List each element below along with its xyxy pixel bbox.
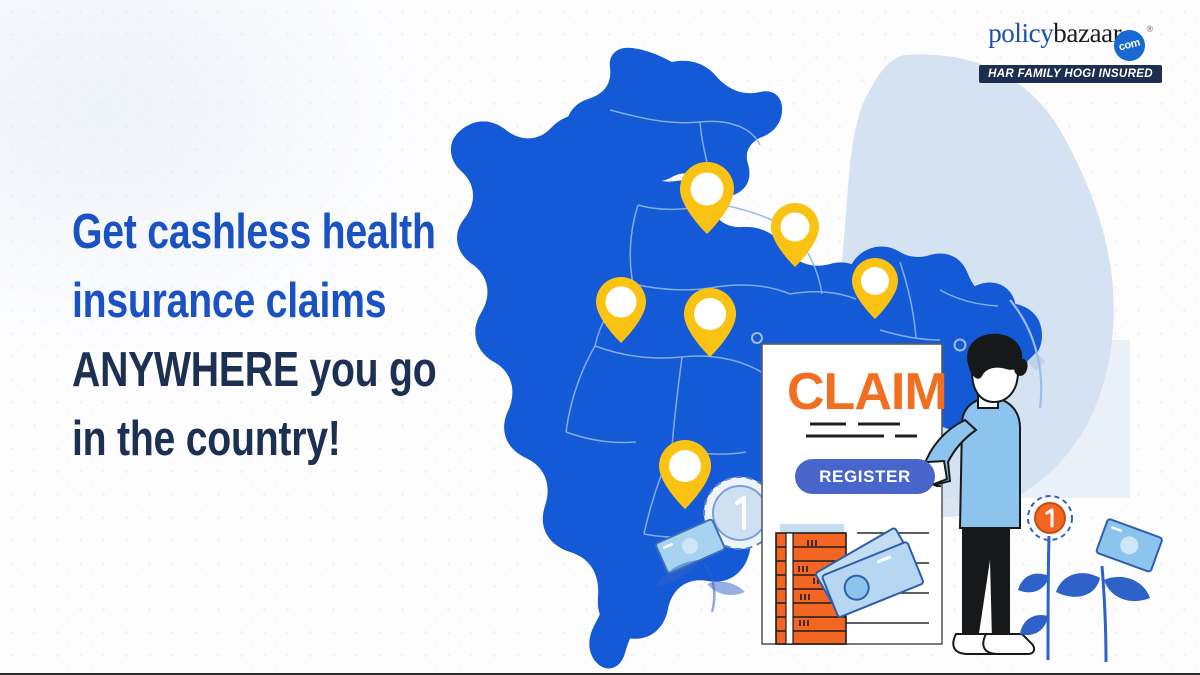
- banknote-stack: [815, 527, 924, 617]
- registered-trademark-icon: ®: [1146, 24, 1152, 34]
- map-pin[interactable]: [684, 288, 736, 357]
- doc-underlines: [806, 424, 917, 436]
- register-button[interactable]: REGISTER: [795, 459, 935, 494]
- map-pin[interactable]: [680, 162, 734, 234]
- background-blob: [828, 54, 1130, 517]
- page-title: Get cashless health insurance claims ANY…: [72, 198, 542, 474]
- map-pin[interactable]: [659, 440, 711, 509]
- logo-policy-text: policy: [988, 18, 1053, 48]
- doc-body-lines: [800, 533, 929, 623]
- map-pins: [596, 162, 898, 509]
- coin-flower: [1018, 496, 1072, 660]
- headline-line-1: Get cashless health: [72, 198, 448, 267]
- map-pin[interactable]: [596, 277, 646, 343]
- promo-banner: policybazaarcom® HAR FAMILY HOGI INSURED…: [0, 0, 1200, 675]
- banknote-on-map: [655, 519, 745, 612]
- map-pin[interactable]: [852, 258, 898, 319]
- orange-books-stack: [776, 533, 846, 644]
- headline-line-4: in the country!: [72, 405, 448, 474]
- doc-highlight-box: [780, 524, 844, 539]
- brand-logo[interactable]: policybazaarcom® HAR FAMILY HOGI INSURED: [963, 20, 1178, 83]
- brand-tagline: HAR FAMILY HOGI INSURED: [979, 65, 1162, 83]
- logo-bazaar-text: bazaar: [1053, 18, 1121, 48]
- headline-line-3: ANYWHERE you go: [72, 336, 448, 405]
- map-pin[interactable]: [771, 203, 819, 267]
- claim-title: CLAIM: [787, 366, 947, 418]
- logo-wordmark: policybazaarcom®: [988, 20, 1153, 61]
- money-flower: [1056, 519, 1163, 662]
- headline-line-2: insurance claims: [72, 267, 448, 336]
- dashed-coin-badge: [704, 477, 776, 549]
